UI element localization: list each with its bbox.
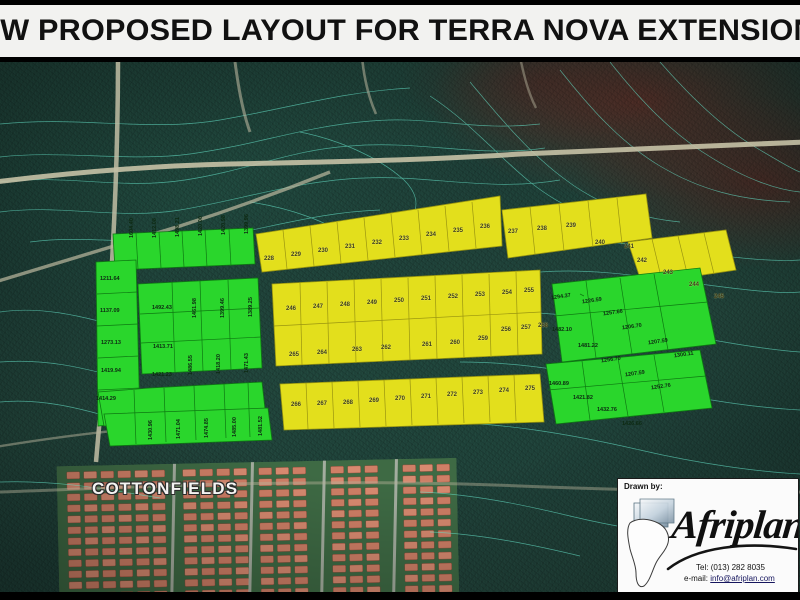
dim-label: 1389.25 — [248, 297, 254, 317]
company-name: Afriplan — [670, 505, 799, 545]
erf-label: 271 — [421, 394, 431, 400]
dim-label: 1471.43 — [244, 353, 250, 373]
erf-label: 265 — [289, 352, 299, 358]
erf-label: 268 — [343, 400, 353, 406]
drawn-by-label: Drawn by: — [624, 482, 663, 491]
page-title: NEW PROPOSED LAYOUT FOR TERRA NOVA EXTEN… — [0, 14, 800, 48]
erf-label: 246 — [286, 306, 296, 312]
erf-label: 272 — [447, 392, 457, 398]
erf-label: 273 — [473, 390, 483, 396]
erf-label: 229 — [291, 252, 301, 258]
dim-label: 1471.04 — [176, 419, 182, 439]
erf-label: 243 — [663, 270, 673, 276]
erf-label: 267 — [317, 401, 327, 407]
erf-label: 235 — [453, 228, 463, 234]
dim-label: 1498.21 — [175, 217, 181, 237]
erf-label: 264 — [317, 350, 327, 356]
erf-label: 241 — [624, 244, 634, 250]
erf-label: 250 — [394, 298, 404, 304]
erf-label: 259 — [478, 336, 488, 342]
dim-label: 1399.96 — [244, 214, 250, 234]
erf-label: 239 — [566, 223, 576, 229]
dim-label: 1430.96 — [148, 420, 154, 440]
erf-label: 262 — [381, 345, 391, 351]
erf-label: 270 — [395, 396, 405, 402]
erf-label: 269 — [369, 398, 379, 404]
erf-label: 258 — [538, 323, 548, 329]
erf-label: 261 — [422, 342, 432, 348]
bottom-border — [0, 592, 800, 600]
green-erven-left — [96, 228, 272, 446]
email-label: e-mail: — [684, 574, 708, 583]
erf-label: 252 — [448, 294, 458, 300]
erf-label: 245 — [714, 294, 724, 300]
dim-label: 1426.66 — [622, 421, 642, 427]
plan-title-bar: NEW PROPOSED LAYOUT FOR TERRA NOVA EXTEN… — [0, 0, 800, 62]
erf-label: 256 — [501, 327, 511, 333]
dim-label: 1481.22 — [578, 343, 598, 349]
erf-label: 247 — [313, 304, 323, 310]
dim-label: 1414.29 — [96, 396, 116, 402]
erf-label: 228 — [264, 256, 274, 262]
erf-label: 230 — [318, 248, 328, 254]
dim-label: 1399.46 — [220, 298, 226, 318]
erf-label: 231 — [345, 244, 355, 250]
dim-label: 1421.23 — [152, 372, 172, 378]
dim-label: 1412.08 — [152, 218, 158, 238]
erf-label: 251 — [421, 296, 431, 302]
email-address[interactable]: info@afriplan.com — [710, 574, 775, 583]
dim-label: 1604.40 — [129, 218, 135, 238]
logo-telephone: Tel: (013) 282 8035 — [696, 563, 765, 572]
township-name-label: COTTONFIELDS — [92, 479, 238, 499]
erf-label: 275 — [525, 386, 535, 392]
erf-label: 254 — [502, 290, 512, 296]
erf-label: 274 — [499, 388, 509, 394]
dim-label: 1137.09 — [100, 308, 120, 314]
afriplan-logo-box: Drawn by: Afriplan Tel: (013) 282 8035 e… — [617, 478, 799, 593]
erf-label: 255 — [524, 288, 534, 294]
erf-label: 248 — [340, 302, 350, 308]
tel-label: Tel: — [696, 563, 708, 572]
dim-label: 1420.00 — [198, 216, 204, 236]
tel-number: (013) 282 8035 — [711, 563, 765, 572]
green-erven-right — [546, 268, 716, 424]
dim-label: 1420.98 — [221, 215, 227, 235]
erf-label: 238 — [537, 226, 547, 232]
dim-label: 1273.13 — [101, 340, 121, 346]
dim-label: 1418.20 — [216, 354, 222, 374]
dim-label: 1460.89 — [549, 381, 569, 387]
erf-label: 253 — [475, 292, 485, 298]
dim-label: 1421.82 — [573, 395, 593, 401]
dim-label: 1486.55 — [188, 355, 194, 375]
erf-label: 234 — [426, 232, 436, 238]
layout-plan-screenshot: NEW PROPOSED LAYOUT FOR TERRA NOVA EXTEN… — [0, 0, 800, 600]
dim-label: 1413.71 — [153, 344, 173, 350]
erf-label: 233 — [399, 236, 409, 242]
erf-label: 237 — [508, 229, 518, 235]
erf-label: 240 — [595, 240, 605, 246]
erf-label: 242 — [637, 258, 647, 264]
dim-label: 1211.64 — [100, 276, 120, 282]
logo-email: e-mail: info@afriplan.com — [684, 574, 775, 583]
erf-label: 260 — [450, 340, 460, 346]
dim-label: 1474.85 — [204, 418, 210, 438]
erf-label: 263 — [352, 347, 362, 353]
erf-label: 266 — [291, 402, 301, 408]
dim-label: 1485.00 — [232, 417, 238, 437]
erf-label: 249 — [367, 300, 377, 306]
dim-label: 1481.52 — [258, 416, 264, 436]
erf-label: 232 — [372, 240, 382, 246]
erf-label: 244 — [689, 282, 699, 288]
dim-label: 1461.98 — [192, 298, 198, 318]
dim-label: 1432.76 — [597, 407, 617, 413]
dim-label: 1419.94 — [101, 368, 121, 374]
dim-label: 1492.43 — [152, 305, 172, 311]
erf-label: 257 — [521, 325, 531, 331]
erf-label: 236 — [480, 224, 490, 230]
dim-label: 1482.10 — [552, 327, 572, 333]
